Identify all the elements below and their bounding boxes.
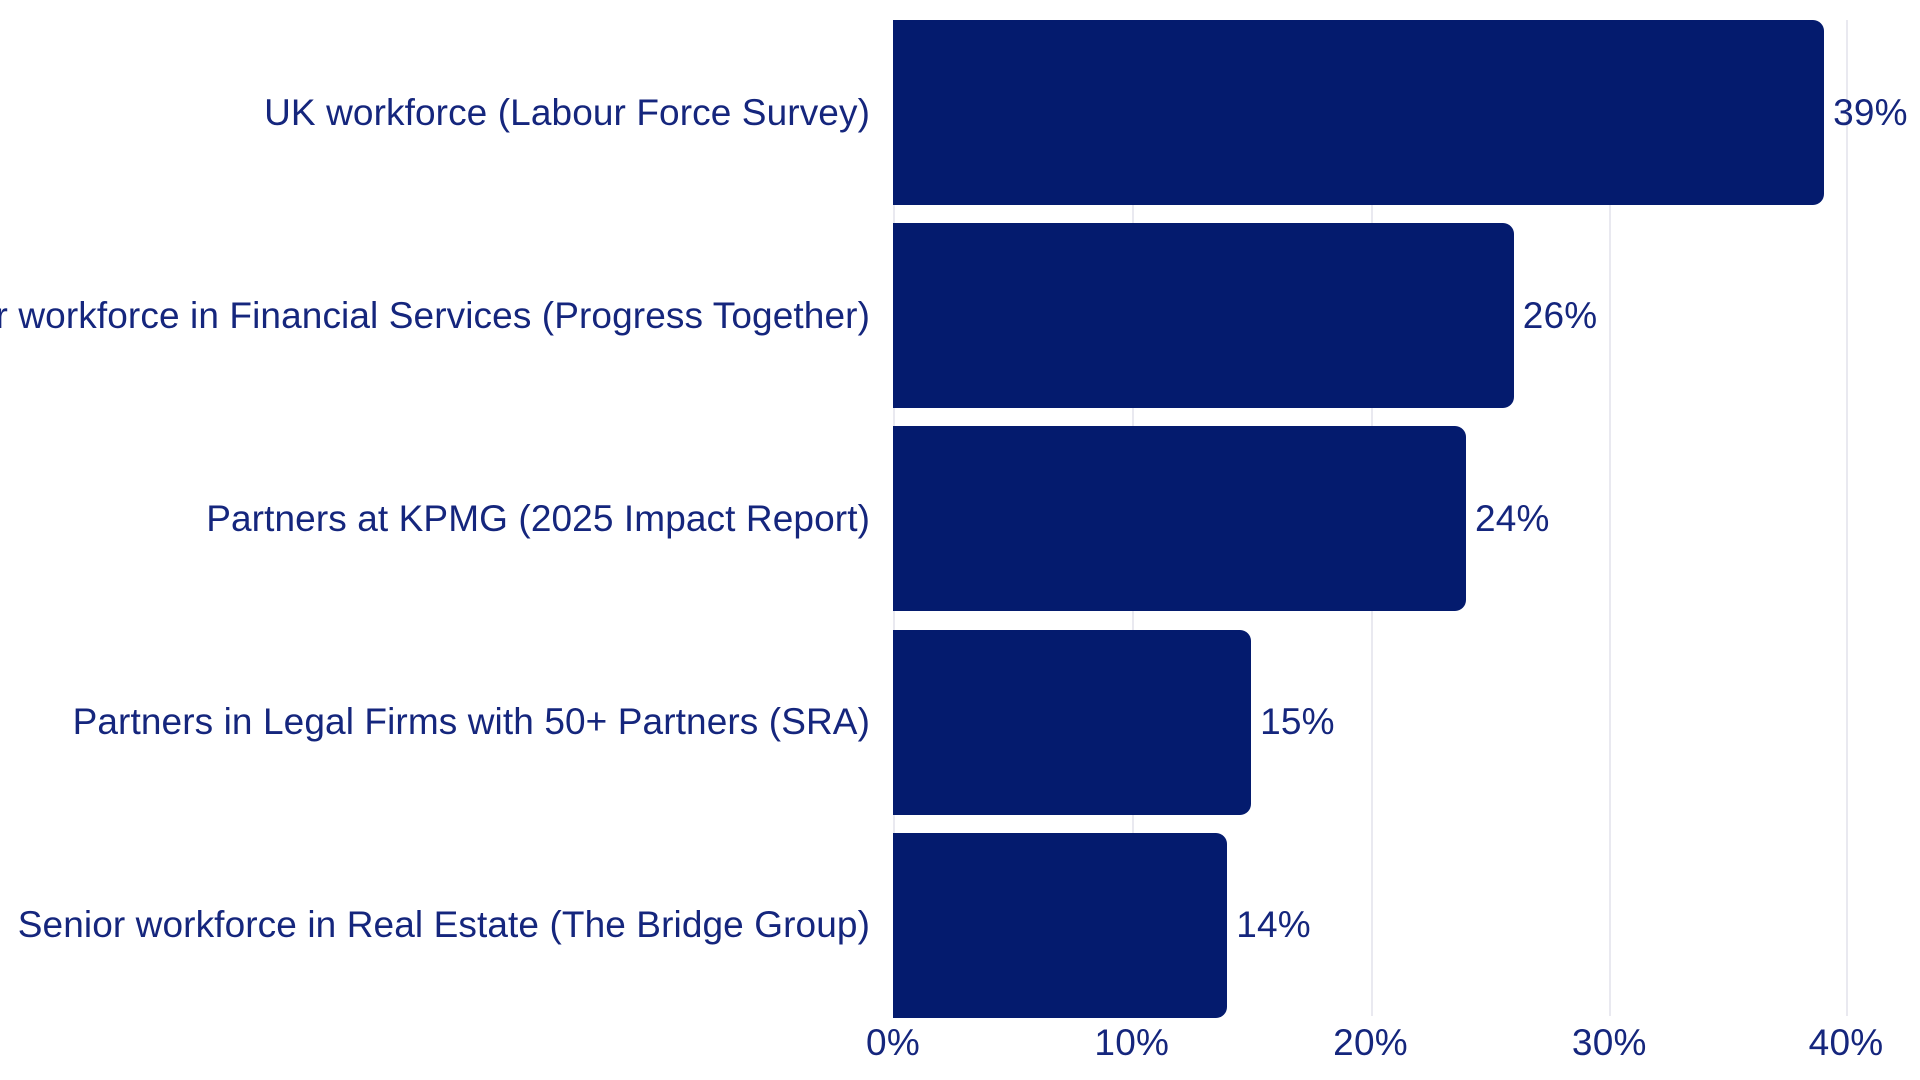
category-label-2: Partners at KPMG (2025 Impact Report): [206, 498, 870, 540]
bar-row: 26%: [893, 223, 1848, 408]
bar-0[interactable]: [893, 20, 1824, 205]
category-label-4: Senior workforce in Real Estate (The Bri…: [18, 904, 870, 946]
x-tick-label-4: 40%: [1809, 1022, 1884, 1064]
category-label-1: Senior workforce in Financial Services (…: [0, 295, 870, 337]
x-tick-label-1: 10%: [1094, 1022, 1169, 1064]
bar-value-3: 15%: [1251, 701, 1335, 743]
bar-chart: UK workforce (Labour Force Survey) Senio…: [0, 0, 1920, 1080]
bar-1[interactable]: [893, 223, 1514, 408]
plot-area: 39% 26% 24% 15% 14%: [893, 20, 1848, 1016]
bar-value-2: 24%: [1466, 498, 1550, 540]
bar-row: 15%: [893, 630, 1848, 815]
x-tick-label-2: 20%: [1333, 1022, 1408, 1064]
bar-row: 14%: [893, 833, 1848, 1018]
x-tick-label-3: 30%: [1572, 1022, 1647, 1064]
bar-2[interactable]: [893, 426, 1466, 611]
category-label-3: Partners in Legal Firms with 50+ Partner…: [73, 701, 870, 743]
bar-row: 24%: [893, 426, 1848, 611]
bar-4[interactable]: [893, 833, 1227, 1018]
bar-value-0: 39%: [1824, 92, 1908, 134]
bar-value-4: 14%: [1227, 904, 1311, 946]
bar-value-1: 26%: [1514, 295, 1598, 337]
bar-3[interactable]: [893, 630, 1251, 815]
bar-row: 39%: [893, 20, 1848, 205]
category-label-0: UK workforce (Labour Force Survey): [264, 92, 870, 134]
x-tick-label-0: 0%: [866, 1022, 920, 1064]
